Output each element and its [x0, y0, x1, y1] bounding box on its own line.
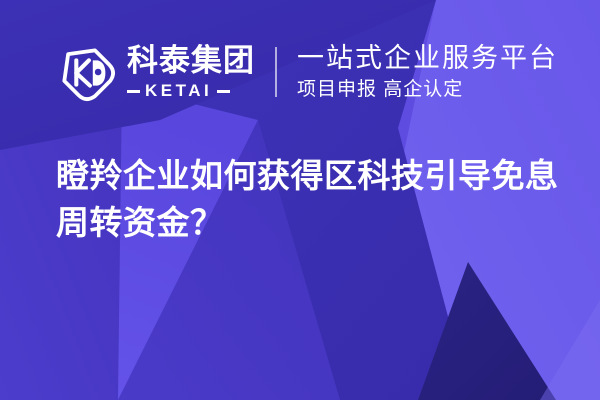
- promo-banner: 科泰集团 KETAI 一站式企业服务平台 项目申报 高企认定 瞪羚企业如何获得区…: [0, 0, 600, 400]
- dash-rule-icon: [217, 90, 230, 93]
- dash-rule-icon: [127, 90, 140, 93]
- logo-chinese-name: 科泰集团: [127, 43, 255, 79]
- brand-tagline: 一站式企业服务平台 项目申报 高企认定: [297, 39, 558, 105]
- logo-english-name: KETAI: [145, 82, 212, 100]
- tagline-primary: 一站式企业服务平台: [297, 42, 558, 75]
- logo-english-row: KETAI: [127, 81, 255, 101]
- logo-wordmark: 科泰集团 KETAI: [127, 39, 255, 105]
- page-title: 瞪羚企业如何获得区科技引导免息周转资金？: [56, 152, 566, 246]
- banner-header: 科泰集团 KETAI 一站式企业服务平台 项目申报 高企认定: [55, 36, 558, 108]
- vertical-divider-icon: [275, 47, 277, 97]
- brand-logo: 科泰集团 KETAI: [55, 36, 255, 108]
- ketai-diamond-kd-logo-icon: [55, 41, 117, 103]
- tagline-secondary: 项目申报 高企认定: [297, 77, 558, 103]
